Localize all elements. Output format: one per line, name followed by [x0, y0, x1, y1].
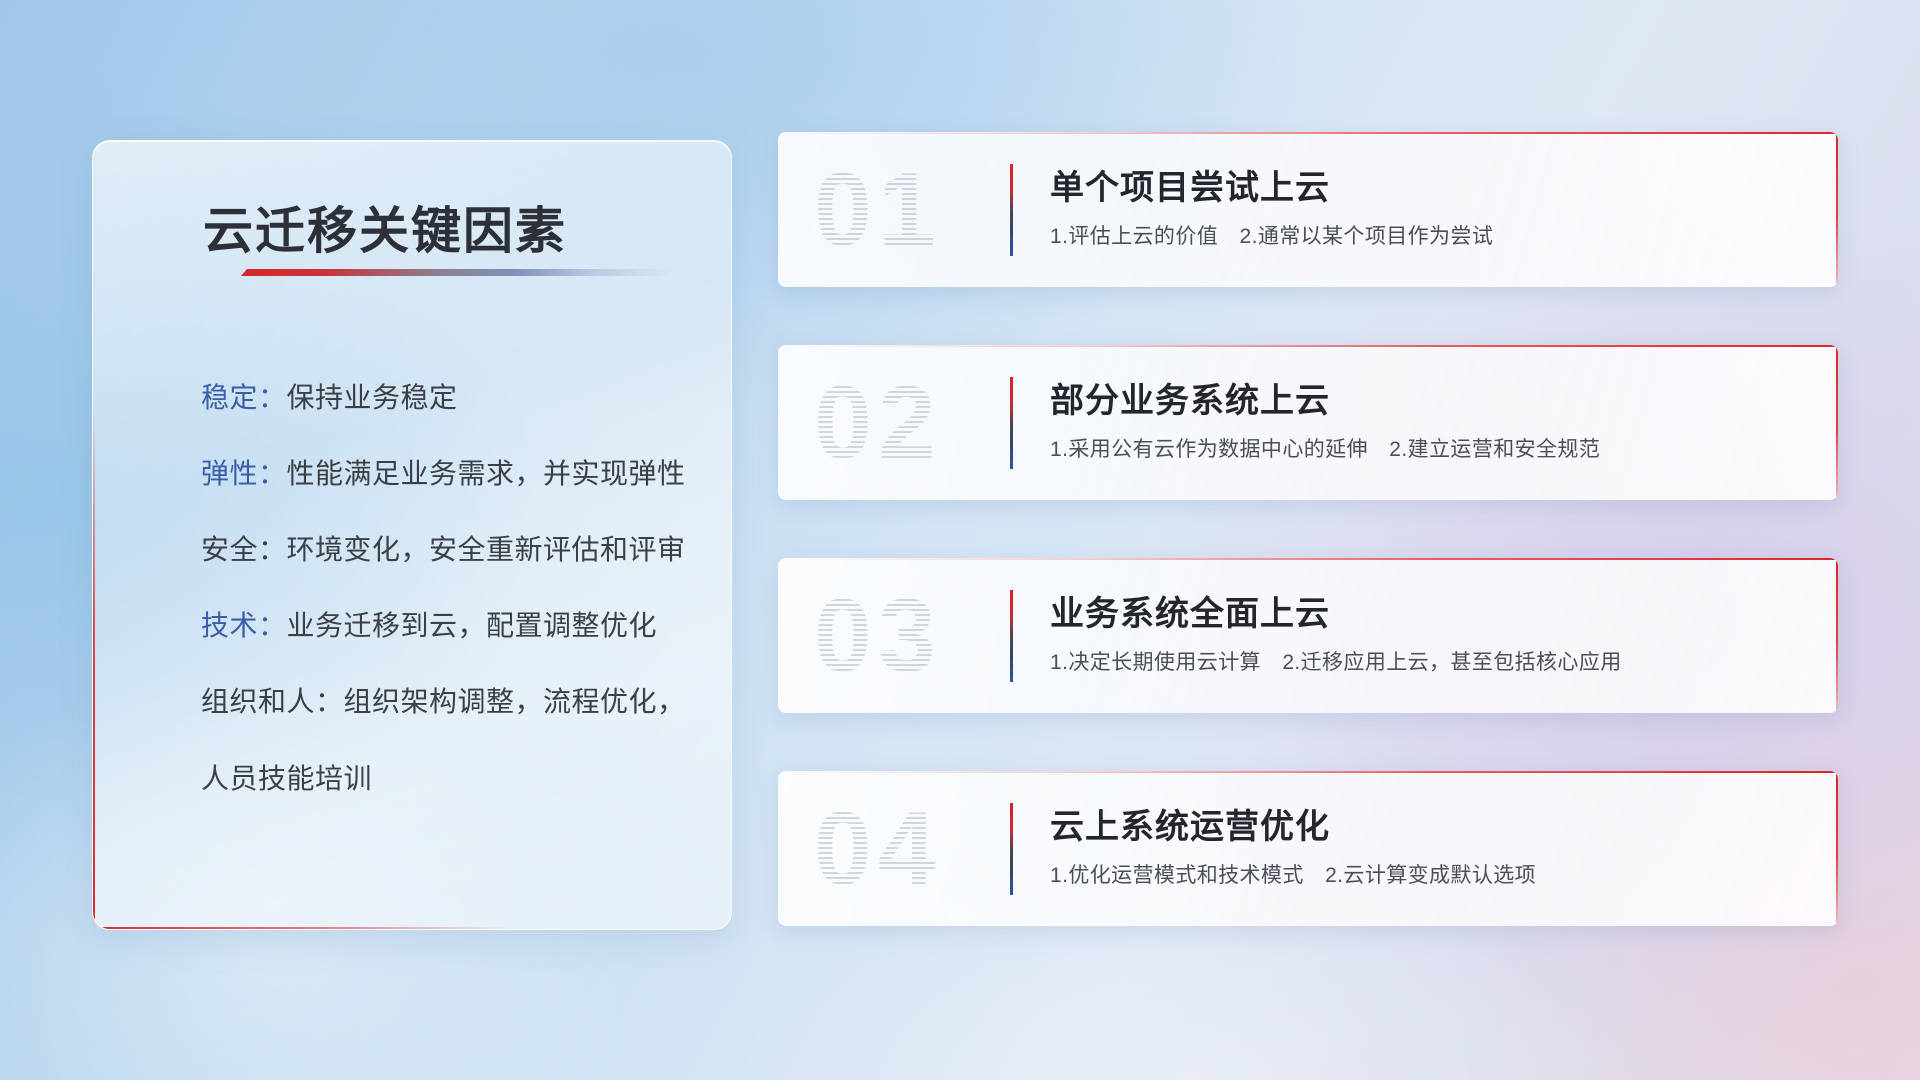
list-item-label: 技术：	[201, 610, 287, 641]
stage-title: 云上系统运营优化	[1050, 799, 1330, 848]
list-item-text: 业务迁移到云，配置调整优化	[287, 610, 658, 641]
stage-card-03[interactable]: 03 业务系统全面上云 1.决定长期使用云计算 2.迁移应用上云，甚至包括核心应…	[778, 558, 1838, 713]
list-item-text: 人员技能培训	[201, 763, 372, 794]
list-item: 技术：业务迁移到云，配置调整优化	[201, 611, 691, 640]
stage-number-text: 01	[814, 152, 942, 268]
stage-title: 业务系统全面上云	[1050, 586, 1330, 635]
stage-number-text: 03	[814, 578, 942, 694]
stage-number-03: 03	[814, 584, 942, 688]
list-item-label: 组织和人：	[201, 686, 344, 717]
title-underline-rule	[241, 269, 671, 276]
list-item: 组织和人：组织架构调整，流程优化，	[201, 687, 691, 716]
stage-title: 单个项目尝试上云	[1050, 160, 1330, 209]
stage-card-02[interactable]: 02 部分业务系统上云 1.采用公有云作为数据中心的延伸 2.建立运营和安全规范	[778, 345, 1838, 500]
list-item-continuation: 人员技能培训	[201, 764, 691, 793]
stage-number-04: 04	[814, 797, 942, 901]
list-item-text: 性能满足业务需求，并实现弹性	[287, 458, 686, 489]
key-factors-panel: 云迁移关键因素 稳定：保持业务稳定 弹性：性能满足业务需求，并实现弹性 安全：环…	[92, 140, 732, 930]
stage-description: 1.决定长期使用云计算 2.迁移应用上云，甚至包括核心应用	[1050, 646, 1622, 676]
list-item-text: 保持业务稳定	[287, 382, 458, 413]
list-item: 弹性：性能满足业务需求，并实现弹性	[201, 459, 691, 488]
stage-number-02: 02	[814, 371, 942, 475]
key-factors-list: 稳定：保持业务稳定 弹性：性能满足业务需求，并实现弹性 安全：环境变化，安全重新…	[201, 383, 691, 793]
list-item-label: 安全：	[201, 534, 287, 565]
migration-stages-list: 01 单个项目尝试上云 1.评估上云的价值 2.通常以某个项目作为尝试 02 部…	[778, 132, 1838, 926]
stage-number-text: 04	[814, 791, 942, 907]
stage-description: 1.优化运营模式和技术模式 2.云计算变成默认选项	[1050, 859, 1536, 889]
stage-number-01: 01	[814, 158, 942, 262]
accent-bar	[1010, 164, 1013, 256]
list-item-label: 稳定：	[201, 382, 287, 413]
page-title: 云迁移关键因素	[203, 191, 567, 263]
accent-bar	[1010, 803, 1013, 895]
list-item-text: 组织架构调整，流程优化，	[344, 686, 686, 717]
stage-description: 1.评估上云的价值 2.通常以某个项目作为尝试	[1050, 220, 1493, 250]
accent-bar	[1010, 377, 1013, 469]
list-item-label: 弹性：	[201, 458, 287, 489]
stage-description: 1.采用公有云作为数据中心的延伸 2.建立运营和安全规范	[1050, 433, 1600, 463]
stage-card-01[interactable]: 01 单个项目尝试上云 1.评估上云的价值 2.通常以某个项目作为尝试	[778, 132, 1838, 287]
stage-title: 部分业务系统上云	[1050, 373, 1330, 422]
list-item-text: 环境变化，安全重新评估和评审	[287, 534, 686, 565]
accent-bar	[1010, 590, 1013, 682]
list-item: 安全：环境变化，安全重新评估和评审	[201, 535, 691, 564]
list-item: 稳定：保持业务稳定	[201, 383, 691, 412]
stage-card-04[interactable]: 04 云上系统运营优化 1.优化运营模式和技术模式 2.云计算变成默认选项	[778, 771, 1838, 926]
stage-number-text: 02	[814, 365, 942, 481]
